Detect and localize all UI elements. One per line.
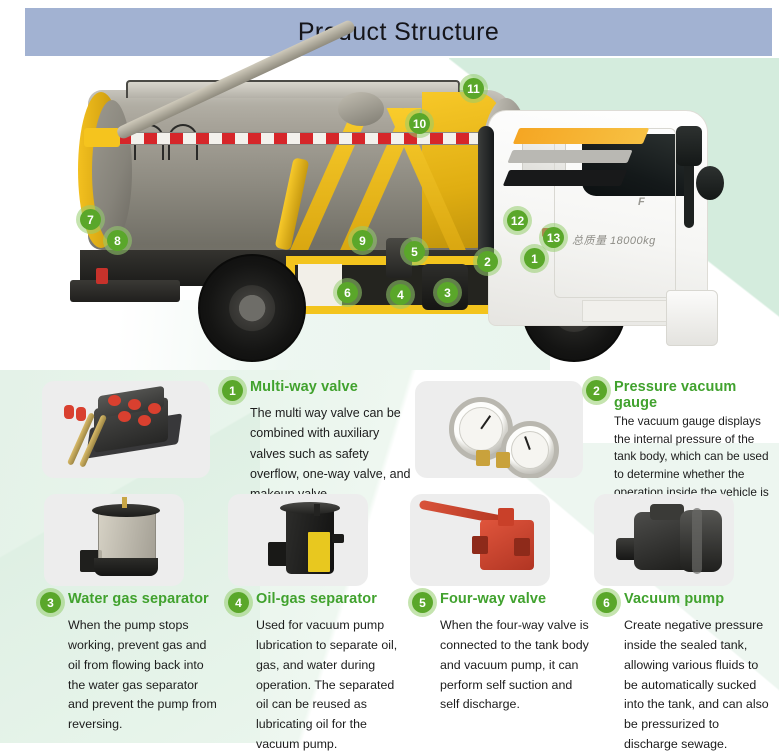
side-mirror — [676, 126, 702, 166]
callout-badge-10: 10 — [409, 113, 430, 134]
cab-brand-badge: F — [638, 196, 645, 208]
pump-top-port — [650, 504, 684, 520]
water-gas-separator-photo — [44, 494, 184, 586]
separator-bracket — [268, 542, 288, 566]
cab-load-marking: 总质量 18000kg — [572, 232, 656, 248]
header-bar: Product Structure — [25, 8, 772, 56]
feature-title-1: Multi-way valve — [250, 380, 358, 396]
cab-black-stripe — [503, 170, 627, 186]
feature-description-5: When the four-way valve is connected to … — [440, 616, 590, 715]
valve-rod-tip — [64, 405, 74, 419]
suction-boom-head — [338, 92, 384, 126]
gauge-face — [511, 431, 549, 469]
separator-vent — [314, 504, 320, 516]
truck-diagram: F 总质量 18000kg 12345678910111213 — [0, 58, 779, 358]
rear-bumper — [70, 280, 180, 302]
valve-knob — [128, 399, 141, 410]
product-structure-page: Product Structure — [0, 0, 779, 743]
tank-side-bracket — [84, 128, 120, 147]
callout-badge-2: 2 — [477, 251, 498, 272]
feature-title-6: Vacuum pump — [624, 592, 724, 608]
vacuum-pump-photo — [594, 494, 734, 586]
valve-stem — [498, 508, 514, 526]
callout-badge-3: 3 — [437, 282, 458, 303]
callout-badge-13: 13 — [543, 227, 564, 248]
callout-badge-8: 8 — [107, 230, 128, 251]
feature-badge-2: 2 — [586, 380, 607, 401]
valve-rod-tip — [76, 407, 86, 421]
separator-lid — [280, 502, 340, 514]
callout-badge-4: 4 — [390, 284, 411, 305]
feature-title-4: Oil-gas separator — [256, 592, 377, 608]
feature-text-5: 5 Four-way valve When the four-way valve… — [412, 592, 590, 715]
wheel-hub — [229, 285, 275, 331]
pressure-vacuum-gauge-photo — [415, 381, 583, 478]
callout-badge-7: 7 — [80, 209, 101, 230]
four-way-valve-photo — [410, 494, 550, 586]
oil-gas-separator-photo — [228, 494, 368, 586]
cab-grey-stripe — [507, 150, 632, 163]
pump-ring — [692, 508, 702, 574]
feature-badge-5: 5 — [412, 592, 433, 613]
callout-badge-9: 9 — [352, 230, 373, 251]
separator-warning-label — [308, 532, 330, 572]
valve-knob — [118, 411, 131, 422]
feature-title-2: Pressure vacuum gauge — [614, 380, 776, 412]
callout-badge-11: 11 — [463, 78, 484, 99]
feature-text-4: 4 Oil-gas separator Used for vacuum pump… — [228, 592, 404, 755]
feature-text-6: 6 Vacuum pump Create negative pressure i… — [596, 592, 774, 755]
feature-heading-6: 6 Vacuum pump — [596, 592, 774, 613]
callout-badge-5: 5 — [404, 241, 425, 262]
reflective-stripe — [92, 132, 510, 145]
feature-heading-2: 2 Pressure vacuum gauge — [586, 380, 776, 412]
feature-text-3: 3 Water gas separator When the pump stop… — [40, 592, 218, 735]
feature-heading-1: 1 Multi-way valve — [222, 380, 412, 401]
gauge-port — [496, 452, 510, 468]
feature-text-1: 1 Multi-way valve The multi way valve ca… — [222, 380, 412, 504]
exhaust-stack — [478, 126, 494, 266]
gauge-port — [476, 450, 490, 466]
rear-marker-light — [96, 268, 108, 284]
feature-description-3: When the pump stops working, prevent gas… — [68, 616, 218, 735]
feature-row-photos — [0, 490, 779, 590]
separator-outlet — [332, 534, 344, 543]
separator-screw — [122, 497, 127, 508]
feature-badge-6: 6 — [596, 592, 617, 613]
feature-badge-3: 3 — [40, 592, 61, 613]
valve-port — [472, 536, 488, 554]
valve-knob — [138, 415, 151, 426]
valve-knob — [108, 395, 121, 406]
valve-port — [514, 538, 530, 556]
truck-illustration: F 总质量 18000kg — [70, 68, 760, 353]
feature-heading-3: 3 Water gas separator — [40, 592, 218, 613]
truck-cab: F 总质量 18000kg — [470, 104, 720, 350]
callout-badge-1: 1 — [524, 248, 545, 269]
callout-badge-6: 6 — [337, 282, 358, 303]
feature-title-5: Four-way valve — [440, 592, 546, 608]
rear-wheel — [198, 254, 306, 362]
feature-heading-4: 4 Oil-gas separator — [228, 592, 404, 613]
gauge-small — [501, 421, 559, 478]
cab-step — [582, 300, 668, 322]
tank-top-rail — [126, 80, 460, 98]
separator-base — [94, 558, 158, 576]
front-bumper — [666, 290, 718, 346]
valve-knob — [148, 403, 161, 414]
feature-badge-1: 1 — [222, 380, 243, 401]
feature-description-6: Create negative pressure inside the seal… — [624, 616, 774, 755]
feature-description-4: Used for vacuum pump lubrication to sepa… — [256, 616, 404, 755]
wide-angle-mirror — [696, 166, 724, 200]
feature-heading-5: 5 Four-way valve — [412, 592, 590, 613]
feature-row-top: 1 Multi-way valve The multi way valve ca… — [0, 372, 779, 490]
feature-badge-4: 4 — [228, 592, 249, 613]
feature-cards: 1 Multi-way valve The multi way valve ca… — [0, 372, 779, 743]
callout-badge-12: 12 — [507, 210, 528, 231]
cab-orange-stripe — [513, 128, 649, 144]
feature-row-text: 3 Water gas separator When the pump stop… — [0, 590, 779, 743]
multi-way-valve-photo — [42, 381, 210, 478]
feature-title-3: Water gas separator — [68, 592, 209, 608]
